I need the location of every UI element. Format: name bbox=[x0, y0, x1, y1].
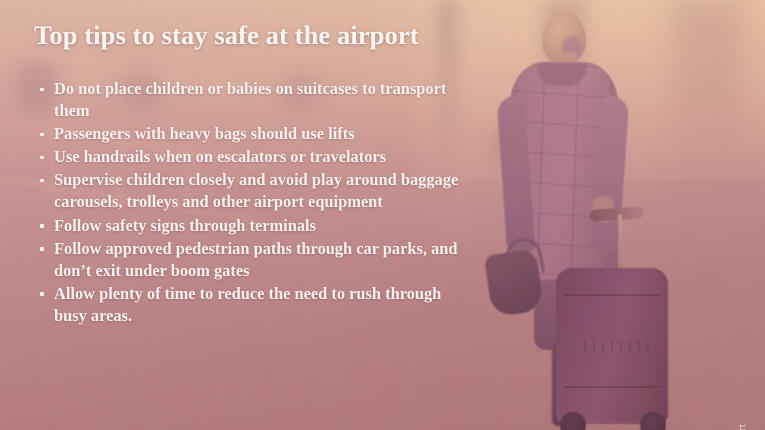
slide-canvas: Top tips to stay safe at the airport Do … bbox=[0, 0, 765, 430]
slide-title: Top tips to stay safe at the airport bbox=[34, 20, 419, 51]
tip-item: Follow safety signs through terminals bbox=[36, 215, 466, 237]
source-credit: Source: Brisbane Airport bbox=[737, 424, 749, 430]
tip-item: Supervise children closely and avoid pla… bbox=[36, 169, 466, 213]
slide-content: Top tips to stay safe at the airport Do … bbox=[0, 0, 765, 430]
tip-item: Do not place children or babies on suitc… bbox=[36, 78, 466, 122]
tip-item: Follow approved pedestrian paths through… bbox=[36, 238, 466, 282]
safety-tips-list: Do not place children or babies on suitc… bbox=[36, 78, 466, 328]
tip-item: Allow plenty of time to reduce the need … bbox=[36, 283, 466, 327]
tip-item: Use handrails when on escalators or trav… bbox=[36, 146, 466, 168]
tip-item: Passengers with heavy bags should use li… bbox=[36, 123, 466, 145]
